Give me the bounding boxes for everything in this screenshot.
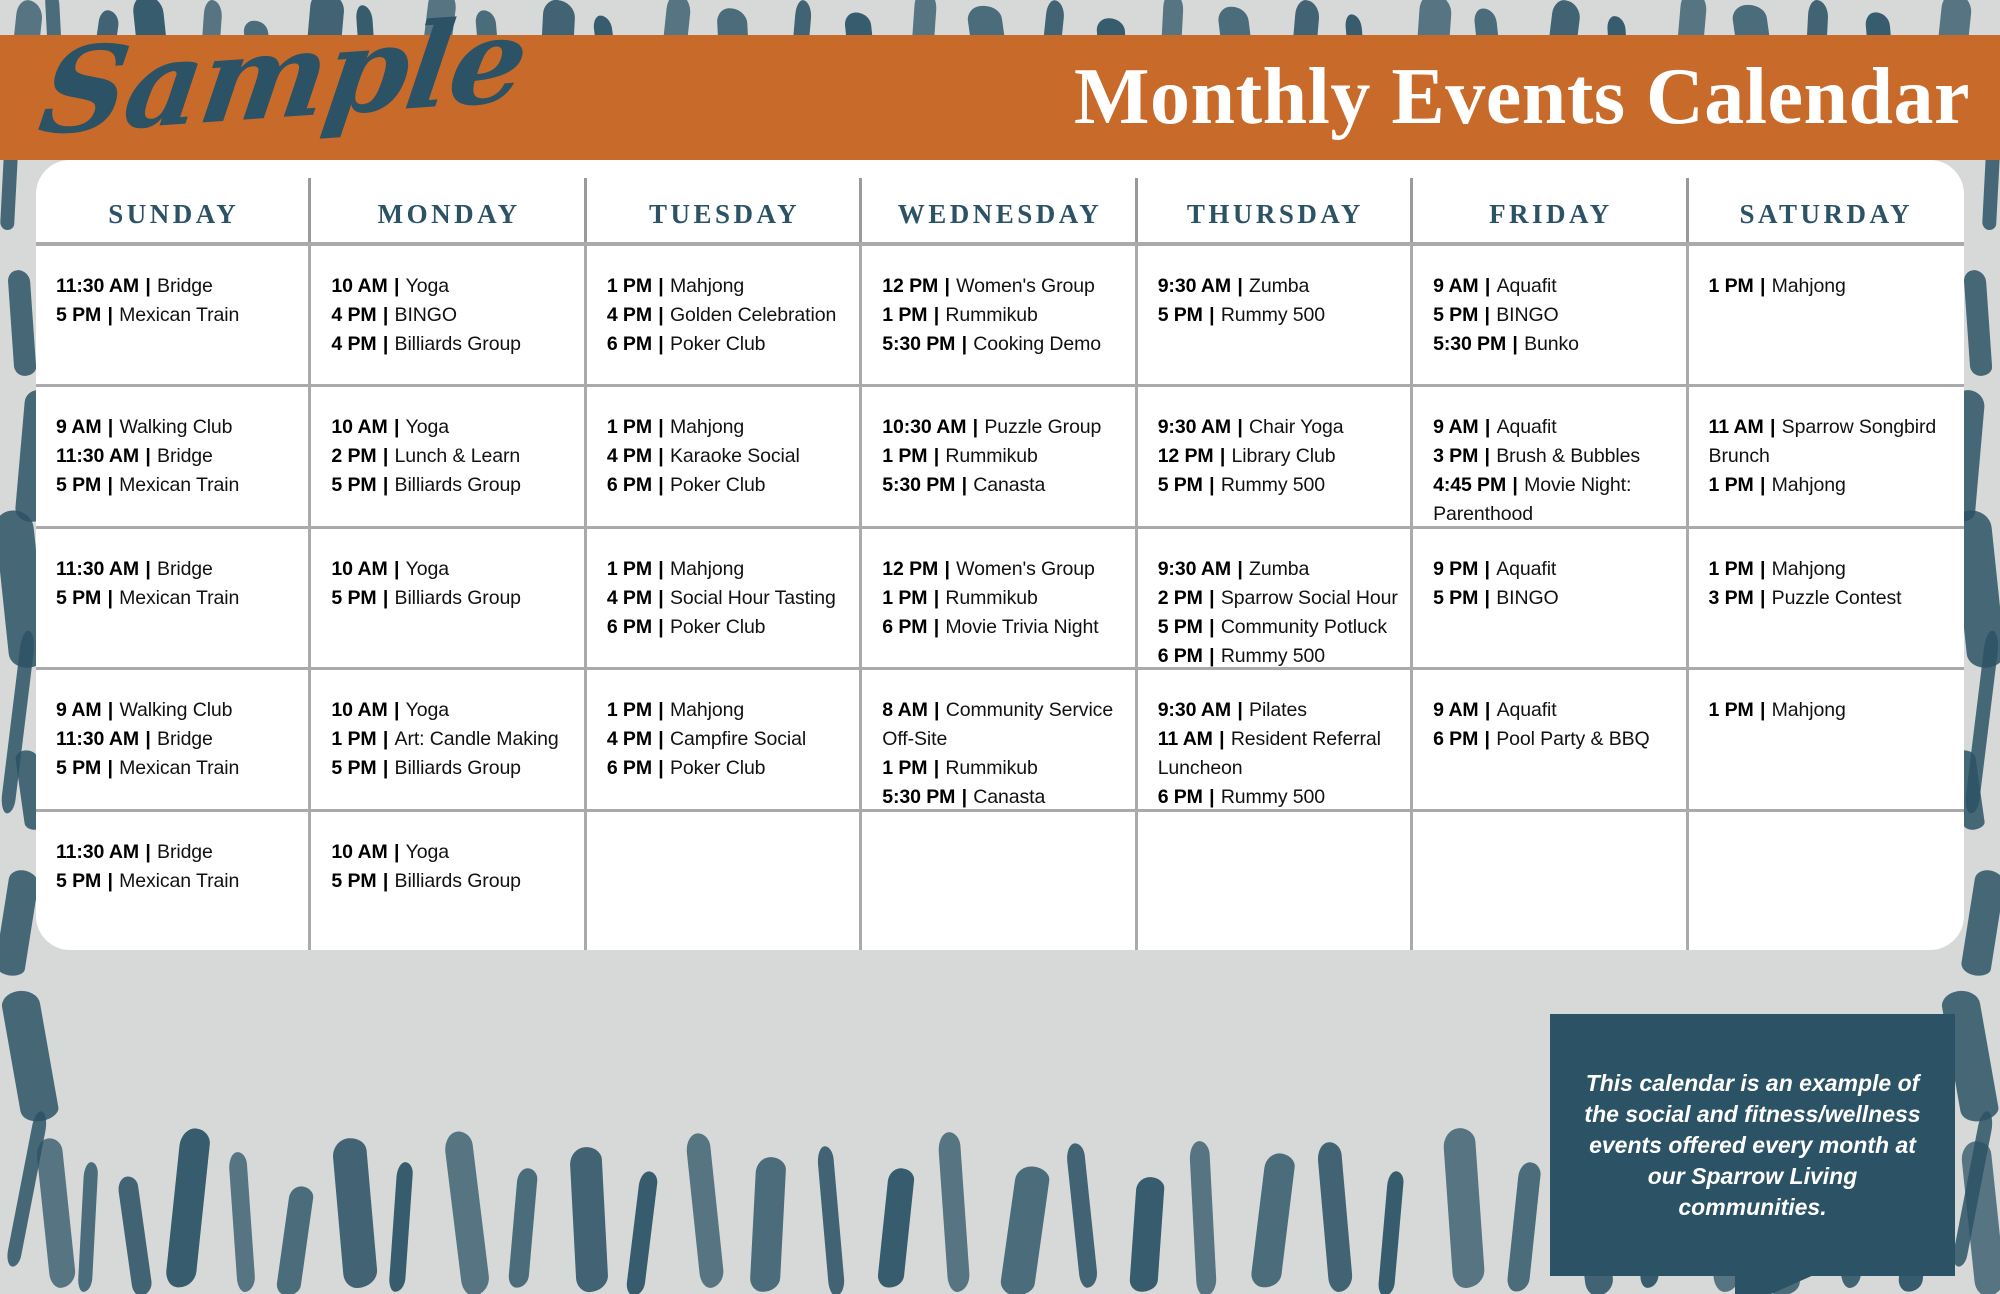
calendar-event[interactable]: 5 PM | BINGO [1433,301,1674,330]
event-time: 5 PM [56,757,101,779]
calendar-event[interactable]: 1 PM | Art: Candle Making [331,725,572,754]
calendar-event[interactable]: 11:30 AM | Bridge [56,442,297,471]
brush-stroke [1065,1142,1098,1288]
calendar-event[interactable]: 5 PM | Billiards Group [331,867,572,896]
event-time: 5 PM [331,474,376,496]
event-name: Lunch & Learn [395,445,521,467]
event-time: 10 AM [331,841,387,863]
calendar-day-cell[interactable]: 9:30 AM | Pilates11 AM | Resident Referr… [1138,670,1413,808]
calendar-event[interactable]: 4 PM | Social Hour Tasting [607,584,848,613]
calendar-event[interactable]: 11:30 AM | Bridge [56,272,297,301]
event-time: 5 PM [331,587,376,609]
event-name: Sparrow Social Hour [1221,587,1398,609]
event-name: Yoga [406,558,449,580]
calendar-day-cell[interactable]: 9:30 AM | Zumba2 PM | Sparrow Social Hou… [1138,529,1413,667]
event-time: 9 AM [1433,275,1478,297]
calendar-event[interactable]: 5 PM | Community Potluck [1158,613,1399,642]
calendar-event[interactable]: 6 PM | Pool Party & BBQ [1433,725,1674,754]
brush-stroke [569,1146,609,1292]
calendar-event[interactable]: 11 AM | Resident Referral Luncheon [1158,725,1399,783]
event-time: 9 AM [56,699,101,721]
calendar-event[interactable]: 9:30 AM | Chair Yoga [1158,413,1399,442]
event-separator: | [652,757,670,779]
brush-stroke [1378,1171,1405,1294]
event-name: Rummikub [945,757,1037,779]
event-separator: | [1203,645,1221,667]
event-name: Chair Yoga [1249,416,1343,438]
event-time: 3 PM [1433,445,1478,467]
event-separator: | [652,587,670,609]
calendar-event[interactable]: 5:30 PM | Cooking Demo [882,330,1123,359]
event-time: 5 PM [1158,474,1203,496]
event-separator: | [1754,474,1772,496]
calendar-day-cell[interactable]: 10:30 AM | Puzzle Group1 PM | Rummikub5:… [862,387,1137,525]
event-separator: | [377,870,395,892]
event-name: Mexican Train [119,757,239,779]
calendar-event[interactable]: 9:30 AM | Zumba [1158,272,1399,301]
brush-stroke [1189,1141,1217,1294]
event-separator: | [1203,474,1221,496]
event-separator: | [388,275,406,297]
event-name: Walking Club [119,416,232,438]
event-time: 1 PM [1709,558,1754,580]
event-name: Mexican Train [119,587,239,609]
event-name: Mexican Train [119,474,239,496]
event-separator: | [652,699,670,721]
calendar-event[interactable]: 2 PM | Sparrow Social Hour [1158,584,1399,613]
brush-stroke [508,1167,538,1288]
event-name: Mexican Train [119,870,239,892]
event-separator: | [652,474,670,496]
calendar-event[interactable]: 5 PM | Billiards Group [331,471,572,500]
event-separator: | [938,275,956,297]
calendar-event[interactable]: 10 AM | Yoga [331,838,572,867]
event-time: 4 PM [331,333,376,355]
calendar-event[interactable]: 5:30 PM | Canasta [882,471,1123,500]
calendar-event[interactable]: 9:30 AM | Zumba [1158,555,1399,584]
event-separator: | [377,728,395,750]
event-name: BINGO [1496,304,1558,326]
event-time: 5 PM [331,870,376,892]
calendar-event[interactable]: 9 AM | Aquafit [1433,413,1674,442]
calendar-event[interactable]: 6 PM | Poker Club [607,471,848,500]
calendar-event[interactable]: 4 PM | Karaoke Social [607,442,848,471]
event-separator: | [652,304,670,326]
calendar-event[interactable]: 6 PM | Poker Club [607,330,848,359]
event-time: 5:30 PM [1433,333,1506,355]
event-separator: | [388,558,406,580]
weekday-header-row: SUNDAYMONDAYTUESDAYWEDNESDAYTHURSDAYFRID… [36,160,1964,246]
calendar-event[interactable]: 5 PM | Rummy 500 [1158,301,1399,330]
calendar-event[interactable]: 1 PM | Mahjong [607,272,848,301]
callout-bubble: This calendar is an example of the socia… [1550,1014,1955,1276]
calendar-event[interactable]: 6 PM | Rummy 500 [1158,642,1399,667]
calendar-day-cell[interactable]: 1 PM | Mahjong3 PM | Puzzle Contest [1689,529,1964,667]
calendar-event[interactable]: 8 AM | Community Service Off-Site [882,696,1123,754]
event-time: 5:30 PM [882,474,955,496]
calendar-event[interactable]: 4:45 PM | Movie Night: Parenthood [1433,471,1674,525]
calendar-grid: 11:30 AM | Bridge5 PM | Mexican Train10 … [36,246,1964,950]
event-time: 9:30 AM [1158,699,1231,721]
calendar-card: SUNDAYMONDAYTUESDAYWEDNESDAYTHURSDAYFRID… [36,160,1964,950]
calendar-event[interactable]: 4 PM | Campfire Social [607,725,848,754]
event-time: 1 PM [607,558,652,580]
event-separator: | [101,870,119,892]
calendar-week-row: 9 AM | Walking Club11:30 AM | Bridge5 PM… [36,387,1964,528]
calendar-event[interactable]: 1 PM | Rummikub [882,442,1123,471]
event-name: BINGO [395,304,457,326]
brush-stroke [999,1164,1051,1294]
event-name: Bunko [1524,333,1579,355]
event-name: Canasta [973,786,1045,808]
calendar-event[interactable]: 9 PM | Aquafit [1433,555,1674,584]
event-name: Bridge [157,445,213,467]
calendar-event[interactable]: 9:30 AM | Pilates [1158,696,1399,725]
brush-stroke [749,1156,786,1292]
event-name: Yoga [406,275,449,297]
calendar-event[interactable]: 11 AM | Sparrow Songbird Brunch [1709,413,1950,471]
calendar-event[interactable]: 12 PM | Women's Group [882,555,1123,584]
calendar-event[interactable]: 6 PM | Poker Club [607,754,848,783]
event-name: Billiards Group [395,870,521,892]
calendar-event[interactable]: 12 PM | Women's Group [882,272,1123,301]
event-name: Rummikub [945,445,1037,467]
brush-stroke [685,1132,725,1289]
calendar-event[interactable]: 1 PM | Mahjong [1709,555,1950,584]
calendar-day-cell[interactable]: 11:30 AM | Bridge5 PM | Mexican Train [36,529,311,667]
event-separator: | [1231,275,1249,297]
event-name: Art: Candle Making [395,728,559,750]
event-separator: | [955,474,973,496]
calendar-event[interactable]: 1 PM | Rummikub [882,584,1123,613]
calendar-event[interactable]: 3 PM | Puzzle Contest [1709,584,1950,613]
calendar-day-cell[interactable]: 1 PM | Mahjong [1689,246,1964,384]
brush-stroke [1250,1152,1296,1290]
event-time: 5 PM [56,474,101,496]
event-time: 12 PM [882,558,938,580]
event-name: Cooking Demo [973,333,1101,355]
weekday-header-sunday: SUNDAY [36,160,311,242]
event-separator: | [1754,558,1772,580]
event-time: 9:30 AM [1158,558,1231,580]
event-separator: | [927,304,945,326]
event-name: Karaoke Social [670,445,800,467]
event-separator: | [652,416,670,438]
event-name: Movie Trivia Night [945,616,1098,638]
event-separator: | [377,474,395,496]
calendar-day-cell[interactable] [587,812,862,950]
brush-stroke [443,1130,491,1294]
event-time: 12 PM [1158,445,1214,467]
calendar-day-cell[interactable]: 1 PM | Mahjong4 PM | Golden Celebration6… [587,246,862,384]
event-separator: | [101,416,119,438]
event-time: 1 PM [882,587,927,609]
event-separator: | [652,616,670,638]
event-name: Library Club [1232,445,1336,467]
event-time: 5 PM [56,870,101,892]
calendar-event[interactable]: 1 PM | Mahjong [1709,471,1950,500]
calendar-event[interactable]: 1 PM | Mahjong [1709,696,1950,725]
event-name: Poker Club [670,616,765,638]
event-name: Poker Club [670,333,765,355]
event-separator: | [955,333,973,355]
event-time: 1 PM [607,416,652,438]
calendar-event[interactable]: 5:30 PM | Canasta [882,783,1123,808]
event-time: 5 PM [1433,304,1478,326]
calendar-event[interactable]: 5 PM | Billiards Group [331,584,572,613]
calendar-event[interactable]: 10 AM | Yoga [331,696,572,725]
event-time: 11:30 AM [56,445,139,467]
callout-text: This calendar is an example of the socia… [1584,1068,1921,1223]
event-name: Bridge [157,558,213,580]
event-time: 6 PM [1158,786,1203,808]
calendar-event[interactable]: 11:30 AM | Bridge [56,555,297,584]
event-time: 10 AM [331,558,387,580]
brush-stroke [1963,269,1992,376]
event-time: 9:30 AM [1158,275,1231,297]
calendar-day-cell[interactable]: 12 PM | Women's Group1 PM | Rummikub6 PM… [862,529,1137,667]
event-time: 9 AM [1433,416,1478,438]
calendar-event[interactable]: 10 AM | Yoga [331,272,572,301]
calendar-day-cell[interactable]: 9:30 AM | Chair Yoga12 PM | Library Club… [1138,387,1413,525]
calendar-event[interactable]: 5 PM | Rummy 500 [1158,471,1399,500]
event-separator: | [1478,728,1496,750]
event-separator: | [927,587,945,609]
event-name: Aquafit [1497,275,1557,297]
brush-stroke [877,1167,915,1289]
event-separator: | [1754,699,1772,721]
calendar-event[interactable]: 9 AM | Walking Club [56,696,297,725]
brush-stroke [1982,150,2000,231]
calendar-event[interactable]: 9 AM | Aquafit [1433,272,1674,301]
event-time: 5:30 PM [882,333,955,355]
brush-stroke [35,1137,77,1289]
calendar-event[interactable]: 5 PM | Mexican Train [56,471,297,500]
calendar-event[interactable]: 6 PM | Movie Trivia Night [882,613,1123,642]
event-separator: | [938,558,956,580]
brush-stroke [816,1146,845,1294]
event-name: Billiards Group [395,587,521,609]
event-name: Pool Party & BBQ [1496,728,1649,750]
brush-stroke [0,150,18,231]
event-separator: | [101,587,119,609]
event-time: 4 PM [607,728,652,750]
event-name: Poker Club [670,474,765,496]
event-name: Mahjong [1772,699,1846,721]
event-separator: | [1754,587,1772,609]
event-name: Billiards Group [395,757,521,779]
event-name: Zumba [1249,275,1309,297]
calendar-day-cell[interactable]: 8 AM | Community Service Off-Site1 PM | … [862,670,1137,808]
calendar-event[interactable]: 11:30 AM | Bridge [56,838,297,867]
brush-stroke [332,1137,379,1289]
weekday-header-monday: MONDAY [311,160,586,242]
brush-stroke [1317,1141,1354,1293]
calendar-event[interactable]: 9 AM | Walking Club [56,413,297,442]
event-time: 5 PM [1158,304,1203,326]
brush-stroke [625,1170,658,1294]
event-name: Golden Celebration [670,304,836,326]
event-name: Billiards Group [395,474,521,496]
event-name: Yoga [406,416,449,438]
event-time: 4 PM [331,304,376,326]
weekday-header-thursday: THURSDAY [1138,160,1413,242]
calendar-event[interactable]: 10 AM | Yoga [331,555,572,584]
event-time: 9:30 AM [1158,416,1231,438]
calendar-event[interactable]: 6 PM | Rummy 500 [1158,783,1399,808]
event-separator: | [388,416,406,438]
event-separator: | [139,728,157,750]
calendar-event[interactable]: 6 PM | Poker Club [607,613,848,642]
calendar-event[interactable]: 1 PM | Rummikub [882,301,1123,330]
event-separator: | [139,445,157,467]
event-time: 6 PM [607,616,652,638]
calendar-event[interactable]: 5 PM | Mexican Train [56,754,297,783]
event-time: 6 PM [607,757,652,779]
calendar-event[interactable]: 1 PM | Mahjong [607,696,848,725]
calendar-day-cell[interactable] [1138,812,1413,950]
calendar-event[interactable]: 10:30 AM | Puzzle Group [882,413,1123,442]
calendar-day-cell[interactable]: 9 AM | Walking Club11:30 AM | Bridge5 PM… [36,387,311,525]
brush-stroke [117,1175,154,1294]
calendar-day-cell[interactable]: 9 AM | Aquafit5 PM | BINGO5:30 PM | Bunk… [1413,246,1688,384]
calendar-day-cell[interactable]: 9 AM | Aquafit6 PM | Pool Party & BBQ [1413,670,1688,808]
event-separator: | [377,757,395,779]
calendar-event[interactable]: 9 AM | Aquafit [1433,696,1674,725]
event-time: 12 PM [882,275,938,297]
brush-stroke [165,1127,212,1289]
calendar-day-cell[interactable]: 11 AM | Sparrow Songbird Brunch1 PM | Ma… [1689,387,1964,525]
calendar-day-cell[interactable]: 10 AM | Yoga1 PM | Art: Candle Making5 P… [311,670,586,808]
calendar-event[interactable]: 5:30 PM | Bunko [1433,330,1674,359]
calendar-day-cell[interactable]: 10 AM | Yoga2 PM | Lunch & Learn5 PM | B… [311,387,586,525]
event-time: 5:30 PM [882,786,955,808]
event-time: 1 PM [1709,275,1754,297]
event-separator: | [1478,558,1496,580]
event-separator: | [1478,587,1496,609]
calendar-day-cell[interactable]: 9:30 AM | Zumba5 PM | Rummy 500 [1138,246,1413,384]
event-time: 1 PM [1709,699,1754,721]
calendar-event[interactable]: 1 PM | Mahjong [607,555,848,584]
event-separator: | [1479,699,1497,721]
event-time: 9 AM [56,416,101,438]
event-separator: | [101,699,119,721]
calendar-day-cell[interactable] [1689,812,1964,950]
brush-stroke [1129,1176,1165,1293]
event-time: 6 PM [607,474,652,496]
event-name: Bridge [157,841,213,863]
event-name: Mahjong [670,416,744,438]
event-name: Aquafit [1497,699,1557,721]
calendar-event[interactable]: 1 PM | Mahjong [607,413,848,442]
calendar-day-cell[interactable]: 12 PM | Women's Group1 PM | Rummikub5:30… [862,246,1137,384]
event-separator: | [388,699,406,721]
brush-stroke [1960,868,2000,977]
event-separator: | [652,558,670,580]
event-separator: | [1214,445,1232,467]
event-name: Rummikub [945,304,1037,326]
event-time: 6 PM [607,333,652,355]
calendar-day-cell[interactable]: 10 AM | Yoga5 PM | Billiards Group [311,812,586,950]
event-name: Bridge [157,728,213,750]
calendar-day-cell[interactable]: 1 PM | Mahjong4 PM | Social Hour Tasting… [587,529,862,667]
event-separator: | [927,445,945,467]
calendar-day-cell[interactable] [862,812,1137,950]
brush-stroke [937,1131,970,1292]
calendar-day-cell[interactable]: 9 PM | Aquafit5 PM | BINGO [1413,529,1688,667]
calendar-event[interactable]: 5 PM | Mexican Train [56,301,297,330]
event-separator: | [1506,474,1524,496]
weekday-header-tuesday: TUESDAY [587,160,862,242]
event-name: Mahjong [1772,474,1846,496]
event-separator: | [1764,416,1782,438]
calendar-event[interactable]: 1 PM | Rummikub [882,754,1123,783]
calendar-day-cell[interactable]: 10 AM | Yoga5 PM | Billiards Group [311,529,586,667]
event-time: 6 PM [1158,645,1203,667]
calendar-event[interactable]: 5 PM | BINGO [1433,584,1674,613]
event-name: Rummy 500 [1221,645,1325,667]
event-name: Yoga [406,841,449,863]
calendar-day-cell[interactable]: 11:30 AM | Bridge5 PM | Mexican Train [36,812,311,950]
event-separator: | [139,558,157,580]
event-separator: | [1203,786,1221,808]
event-separator: | [928,699,946,721]
calendar-day-cell[interactable]: 9 AM | Aquafit3 PM | Brush & Bubbles4:45… [1413,387,1688,525]
calendar-day-cell[interactable]: 10 AM | Yoga4 PM | BINGO4 PM | Billiards… [311,246,586,384]
event-separator: | [1754,275,1772,297]
calendar-day-cell[interactable]: 1 PM | Mahjong4 PM | Karaoke Social6 PM … [587,387,862,525]
calendar-event[interactable]: 5 PM | Mexican Train [56,867,297,896]
event-separator: | [1203,616,1221,638]
calendar-day-cell[interactable]: 1 PM | Mahjong [1689,670,1964,808]
calendar-event[interactable]: 12 PM | Library Club [1158,442,1399,471]
calendar-event[interactable]: 3 PM | Brush & Bubbles [1433,442,1674,471]
calendar-event[interactable]: 4 PM | Billiards Group [331,330,572,359]
event-separator: | [652,333,670,355]
event-time: 10:30 AM [882,416,966,438]
calendar-day-cell[interactable]: 1 PM | Mahjong4 PM | Campfire Social6 PM… [587,670,862,808]
calendar-day-cell[interactable]: 11:30 AM | Bridge5 PM | Mexican Train [36,246,311,384]
calendar-week-row: 11:30 AM | Bridge5 PM | Mexican Train10 … [36,246,1964,387]
event-separator: | [388,841,406,863]
event-separator: | [1203,304,1221,326]
event-time: 11 AM [1709,416,1764,438]
calendar-day-cell[interactable]: 9 AM | Walking Club11:30 AM | Bridge5 PM… [36,670,311,808]
calendar-day-cell[interactable] [1413,812,1688,950]
calendar-event[interactable]: 4 PM | BINGO [331,301,572,330]
event-time: 3 PM [1709,587,1754,609]
brush-stroke [0,868,40,977]
brush-stroke [7,269,36,376]
event-name: Aquafit [1497,416,1557,438]
event-name: Mahjong [670,275,744,297]
page-title: Monthly Events Calendar [570,42,1970,152]
calendar-event[interactable]: 5 PM | Mexican Train [56,584,297,613]
event-name: Mahjong [670,699,744,721]
event-name: Puzzle Group [984,416,1101,438]
brush-stroke [1506,1161,1541,1293]
calendar-event[interactable]: 1 PM | Mahjong [1709,272,1950,301]
event-name: Mahjong [1772,558,1846,580]
calendar-event[interactable]: 2 PM | Lunch & Learn [331,442,572,471]
calendar-event[interactable]: 4 PM | Golden Celebration [607,301,848,330]
calendar-event[interactable]: 10 AM | Yoga [331,413,572,442]
event-time: 11:30 AM [56,558,139,580]
calendar-event[interactable]: 5 PM | Billiards Group [331,754,572,783]
event-separator: | [652,275,670,297]
event-separator: | [927,616,945,638]
calendar-event[interactable]: 11:30 AM | Bridge [56,725,297,754]
